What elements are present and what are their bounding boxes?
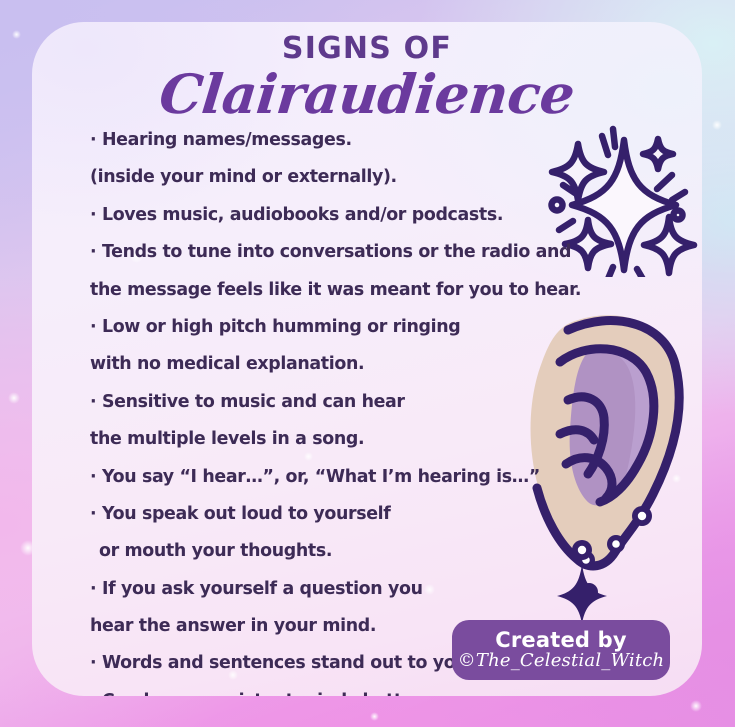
created-by-label: Created by <box>495 629 627 651</box>
list-item: · If you ask yourself a question you <box>90 571 590 608</box>
list-item: · Can have consistent mind chatter <box>90 683 590 696</box>
list-item: with no medical explanation. <box>90 346 590 383</box>
list-item: · You say “I hear…”, or, “What I’m heari… <box>90 459 590 496</box>
list-item: · Hearing names/messages. <box>90 122 590 159</box>
list-item: or mouth your thoughts. <box>90 533 590 570</box>
list-item: the multiple levels in a song. <box>90 421 590 458</box>
list-item: · Sensitive to music and can hear <box>90 384 590 421</box>
signs-list: · Hearing names/messages. (inside your m… <box>90 122 590 696</box>
created-by-badge: Created by ©The_Celestial_Witch <box>452 620 670 680</box>
list-item: · Tends to tune into conversations or th… <box>90 234 590 271</box>
content-card: SIGNS OF Clairaudience <box>32 22 702 696</box>
page-title-kicker: SIGNS OF <box>32 31 702 66</box>
poster: SIGNS OF Clairaudience <box>0 0 735 727</box>
list-item: · You speak out loud to yourself <box>90 496 590 533</box>
list-item: (inside your mind or externally). <box>90 159 590 196</box>
creator-handle: ©The_Celestial_Witch <box>458 651 665 672</box>
list-item: · Loves music, audiobooks and/or podcast… <box>90 197 590 234</box>
list-item: the message feels like it was meant for … <box>90 272 590 309</box>
list-item: · Low or high pitch humming or ringing <box>90 309 590 346</box>
